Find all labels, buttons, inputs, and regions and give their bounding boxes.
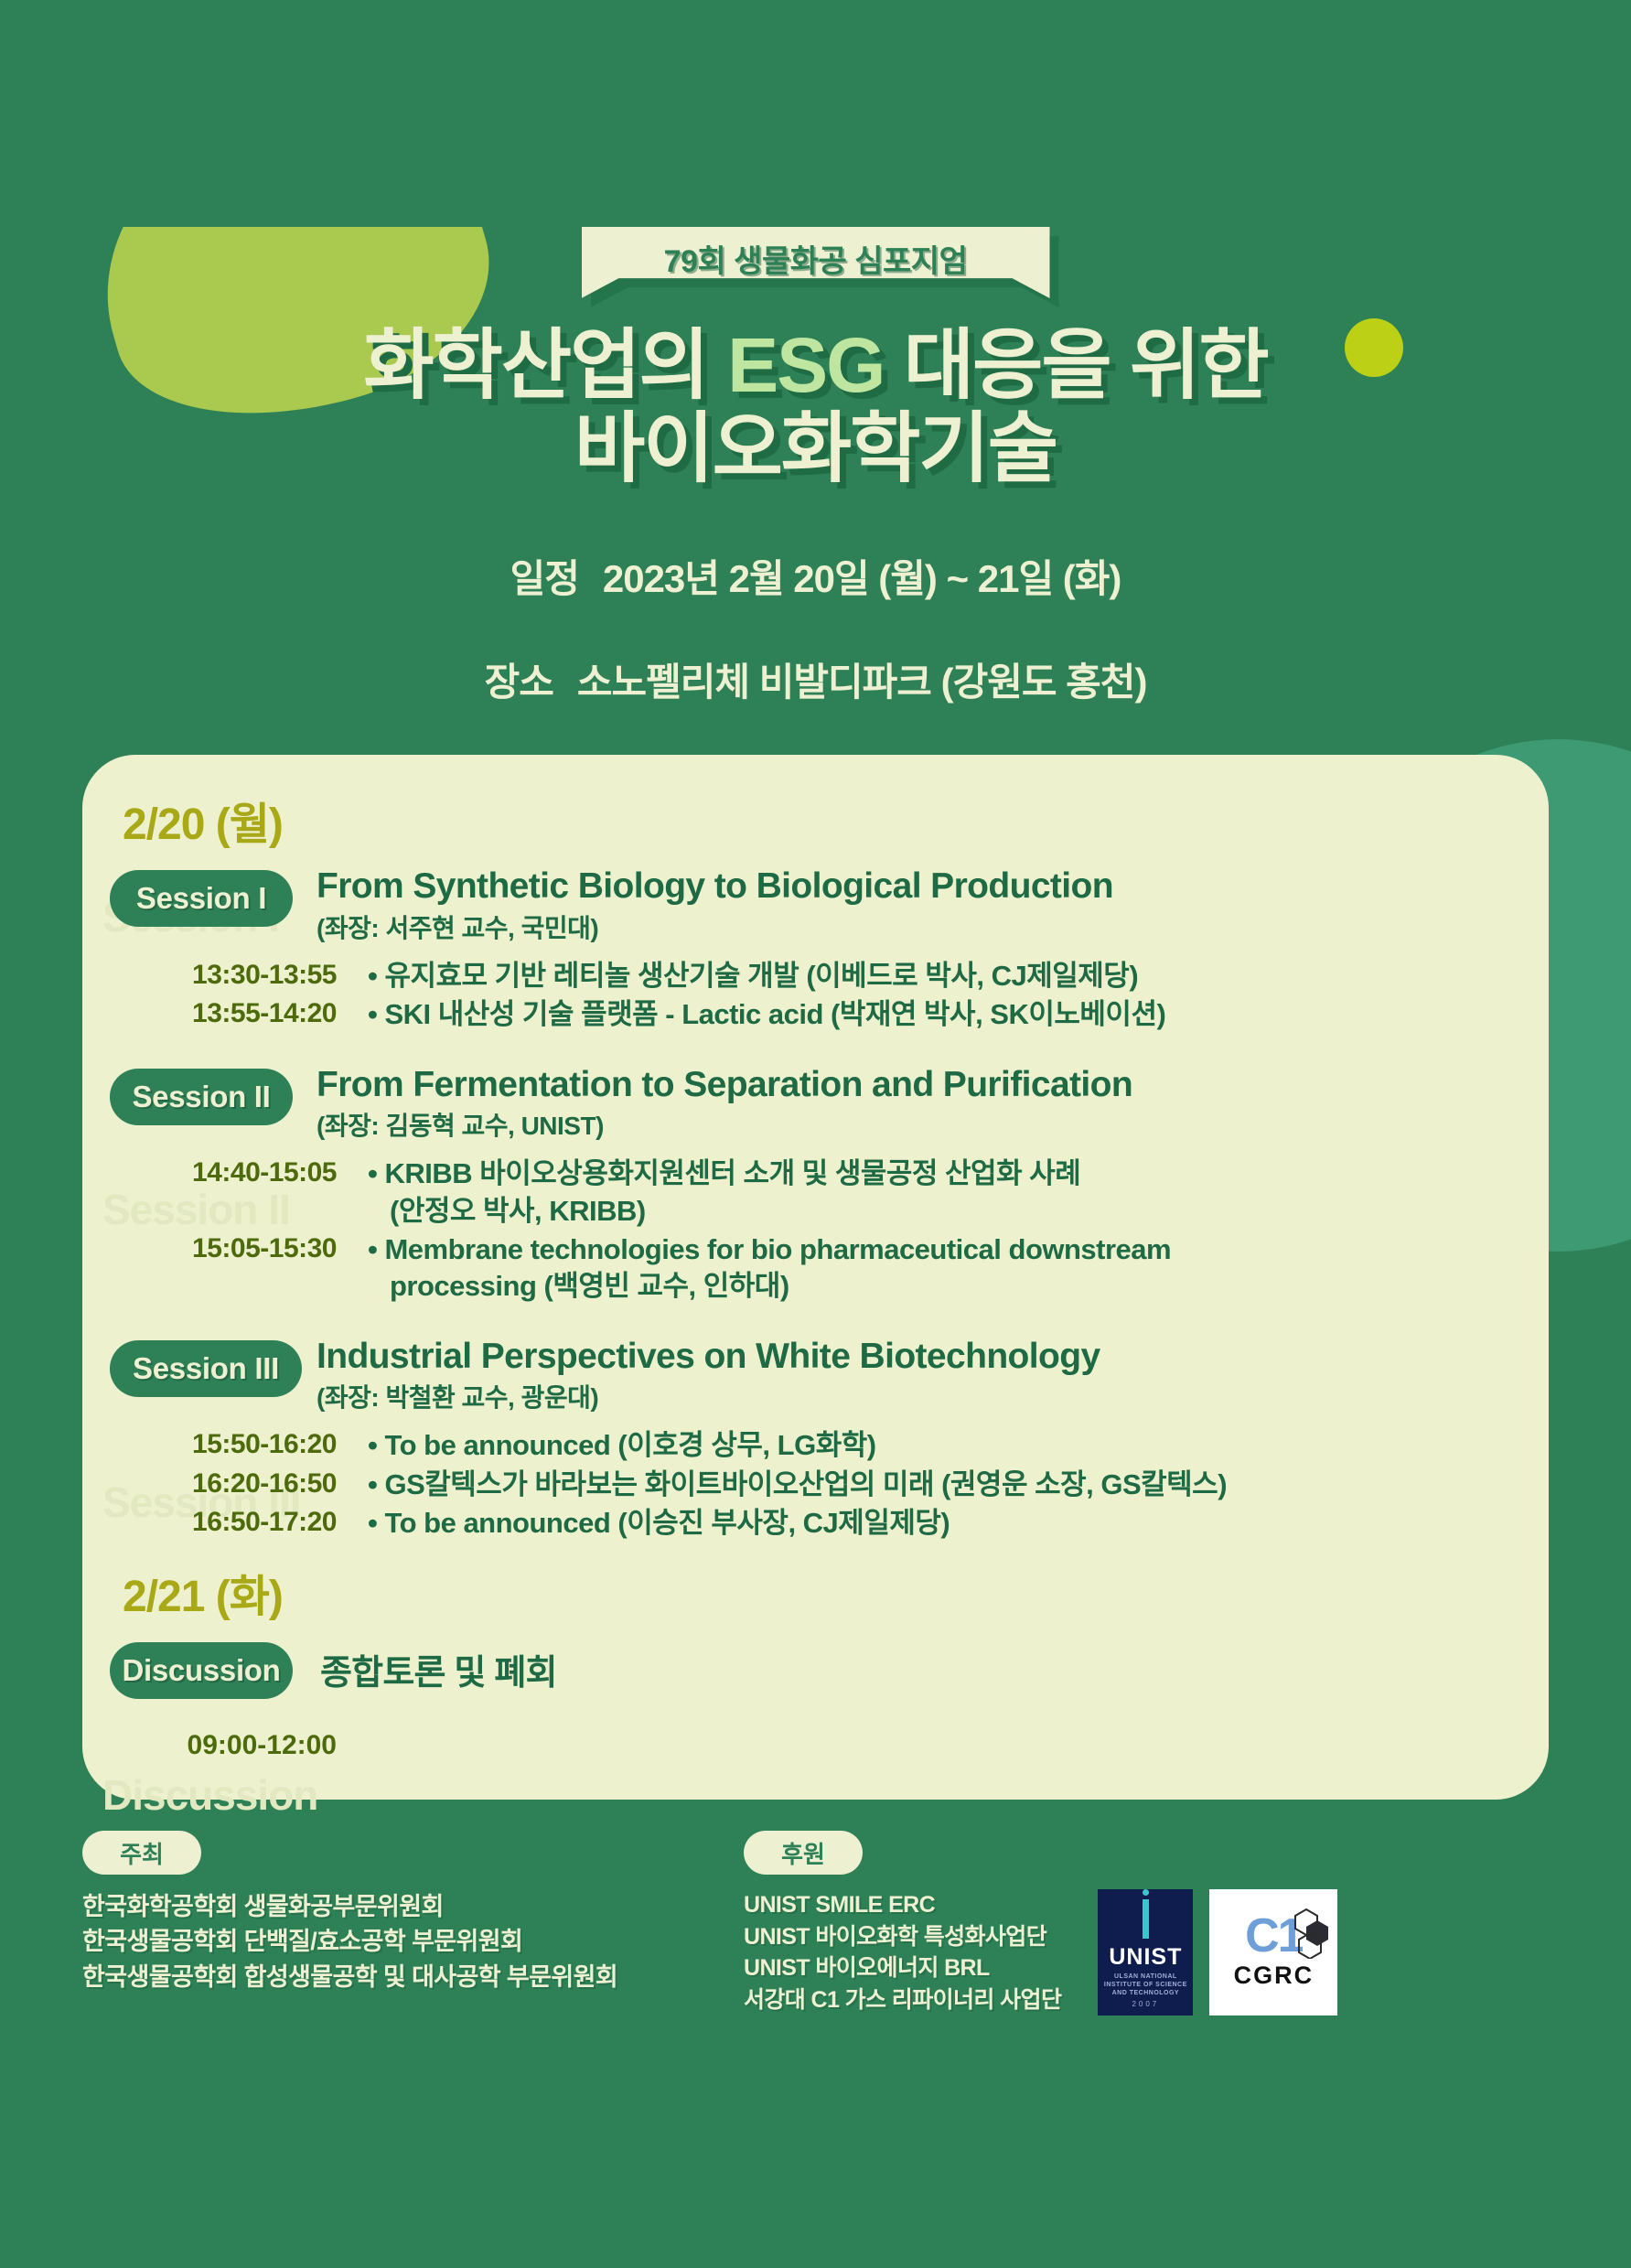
sponsor-column: 후원 UNIST SMILE ERC UNIST 바이오화학 특성화사업단 UN… [744, 1831, 1549, 2015]
talk-text: • Membrane technologies for bio pharmace… [337, 1231, 1171, 1306]
unist-dot-icon [1143, 1889, 1149, 1896]
talk-text: • To be announced (이호경 상무, LG화학) [337, 1427, 876, 1464]
discussion-time: 09:00-12:00 [82, 1730, 337, 1761]
session-chair-1: (좌장: 서주현 교수, 국민대) [317, 908, 1113, 945]
day-label-2: 2/21 (화) [82, 1560, 1549, 1624]
session-titles-2: From Fermentation to Separation and Puri… [293, 1065, 1132, 1144]
talk-text: • KRIBB 바이오상용화지원센터 소개 및 생물공정 산업화 사례 (안정오… [337, 1155, 1080, 1230]
session-header-1: Session I From Synthetic Biology to Biol… [82, 866, 1549, 945]
talk-time: 16:20-16:50 [82, 1467, 337, 1499]
session-block-3: Session III Industrial Perspectives on W… [82, 1337, 1549, 1542]
sponsor-list: UNIST SMILE ERC UNIST 바이오화학 특성화사업단 UNIST… [744, 1889, 1061, 2015]
talk-text-cont: processing (백영빈 교수, 인하대) [368, 1268, 1171, 1305]
sponsor-tag: 후원 [744, 1831, 863, 1875]
session-titles-3: Industrial Perspectives on White Biotech… [302, 1337, 1100, 1415]
sponsor-line: UNIST 바이오에너지 BRL [744, 1952, 1061, 1984]
session-pill-3[interactable]: Session III [110, 1340, 302, 1397]
talk-row: 13:55-14:20 • SKI 내산성 기술 플랫폼 - Lactic ac… [82, 996, 1549, 1033]
talk-row: 16:50-17:20 • To be announced (이승진 부사장, … [82, 1505, 1549, 1542]
event-meta: 일정2023년 2월 20일 (월) ~ 21일 (화) 장소소노펠리체 비발디… [0, 548, 1631, 707]
title-accent-esg: ESG [727, 322, 884, 408]
talk-time: 14:40-15:05 [82, 1155, 337, 1188]
sponsor-line: UNIST 바이오화학 특성화사업단 [744, 1921, 1061, 1953]
talk-text: • 유지효모 기반 레티놀 생산기술 개발 (이베드로 박사, CJ제일제당) [337, 958, 1138, 994]
talk-time: 13:30-13:55 [82, 958, 337, 991]
poster-content: 79회 생물화공 심포지엄 화학산업의 ESG 대응을 위한 바이오화학기술 일… [0, 227, 1631, 2015]
session-block-1: Session I From Synthetic Biology to Biol… [82, 866, 1549, 1033]
host-column: 주최 한국화학공학회 생물화공부문위원회 한국생물공학회 단백질/효소공학 부문… [82, 1831, 744, 2015]
session-title-2: From Fermentation to Separation and Puri… [317, 1065, 1132, 1105]
session-titles-1: From Synthetic Biology to Biological Pro… [293, 866, 1113, 945]
talk-time: 13:55-14:20 [82, 996, 337, 1029]
host-list: 한국화학공학회 생물화공부문위원회 한국생물공학회 단백질/효소공학 부문위원회… [82, 1889, 744, 1994]
date-value: 2023년 2월 20일 (월) ~ 21일 (화) [603, 557, 1121, 600]
talk-row: 15:05-15:30 • Membrane technologies for … [82, 1231, 1549, 1306]
talk-text-main: • KRIBB 바이오상용화지원센터 소개 및 생물공정 산업화 사례 [368, 1155, 1080, 1192]
talk-time: 15:50-16:20 [82, 1427, 337, 1460]
program-card: Session I Session II Session III Discuss… [82, 755, 1549, 1800]
talk-text: • To be announced (이승진 부사장, CJ제일제당) [337, 1505, 950, 1542]
talk-row: 13:30-13:55 • 유지효모 기반 레티놀 생산기술 개발 (이베드로 … [82, 958, 1549, 994]
discussion-title: 종합토론 및 폐회 [293, 1644, 557, 1694]
sponsor-line: UNIST SMILE ERC [744, 1889, 1061, 1921]
discussion-block: Discussion 종합토론 및 폐회 [82, 1639, 1549, 1699]
footer: 주최 한국화학공학회 생물화공부문위원회 한국생물공학회 단백질/효소공학 부문… [0, 1831, 1631, 2015]
page-title: 화학산업의 ESG 대응을 위한 바이오화학기술 [0, 324, 1631, 489]
title-part-1: 화학산업의 [363, 322, 727, 408]
ghost-discussion: Discussion [102, 1770, 317, 1820]
title-line-1: 화학산업의 ESG 대응을 위한 [0, 324, 1631, 407]
discussion-pill[interactable]: Discussion [110, 1642, 293, 1699]
talk-text: • GS칼텍스가 바라보는 화이트바이오산업의 미래 (권영운 소장, GS칼텍… [337, 1467, 1227, 1503]
talk-row: 16:20-16:50 • GS칼텍스가 바라보는 화이트바이오산업의 미래 (… [82, 1467, 1549, 1503]
talk-time: 16:50-17:20 [82, 1505, 337, 1538]
session-header-3: Session III Industrial Perspectives on W… [82, 1337, 1549, 1415]
session-pill-1[interactable]: Session I [110, 870, 293, 927]
session-chair-2: (좌장: 김동혁 교수, UNIST) [317, 1106, 1132, 1143]
ribbon-shape: 79회 생물화공 심포지엄 [582, 227, 1050, 298]
session-header-2: Session II From Fermentation to Separati… [82, 1065, 1549, 1144]
hexagon-icon [1292, 1908, 1332, 1959]
session-chair-3: (좌장: 박철환 교수, 광운대) [317, 1378, 1100, 1414]
unist-subtitle: ULSAN NATIONAL INSTITUTE OF SCIENCE AND … [1098, 1972, 1193, 1997]
talk-text-cont: (안정오 박사, KRIBB) [368, 1193, 1080, 1230]
talk-row: 15:50-16:20 • To be announced (이호경 상무, L… [82, 1427, 1549, 1464]
host-line: 한국생물공학회 합성생물공학 및 대사공학 부문위원회 [82, 1960, 744, 1994]
unist-year: 2007 [1132, 2000, 1159, 2008]
sponsor-logos: UNIST ULSAN NATIONAL INSTITUTE OF SCIENC… [1098, 1831, 1337, 2015]
session-title-3: Industrial Perspectives on White Biotech… [317, 1337, 1100, 1377]
host-line: 한국생물공학회 단백질/효소공학 부문위원회 [82, 1924, 744, 1959]
sponsor-line: 서강대 C1 가스 리파이너리 사업단 [744, 1984, 1061, 2016]
day-label-1: 2/20 (월) [82, 788, 1549, 852]
sponsor-text-group: 후원 UNIST SMILE ERC UNIST 바이오화학 특성화사업단 UN… [744, 1831, 1061, 2015]
session-pill-2[interactable]: Session II [110, 1069, 293, 1125]
session-block-2: Session II From Fermentation to Separati… [82, 1065, 1549, 1306]
unist-logo: UNIST ULSAN NATIONAL INSTITUTE OF SCIENC… [1098, 1889, 1193, 2015]
cgrc-text: CGRC [1234, 1962, 1314, 1990]
talk-text-main: • Membrane technologies for bio pharmace… [368, 1231, 1171, 1268]
cgrc-logo: C1 CGRC [1209, 1889, 1337, 2015]
event-date-row: 일정2023년 2월 20일 (월) ~ 21일 (화) [0, 548, 1631, 604]
symposium-number-label: 79회 생물화공 심포지엄 [664, 227, 968, 281]
session-title-1: From Synthetic Biology to Biological Pro… [317, 866, 1113, 907]
session-talks-3: 15:50-16:20 • To be announced (이호경 상무, L… [82, 1427, 1549, 1542]
talk-row: 14:40-15:05 • KRIBB 바이오상용화지원센터 소개 및 생물공정… [82, 1155, 1549, 1230]
ribbon-banner: 79회 생물화공 심포지엄 [582, 227, 1050, 298]
place-label: 장소 [485, 661, 553, 704]
session-talks-1: 13:30-13:55 • 유지효모 기반 레티놀 생산기술 개발 (이베드로 … [82, 958, 1549, 1034]
title-part-2: 대응을 위한 [885, 322, 1268, 408]
talk-text: • SKI 내산성 기술 플랫폼 - Lactic acid (박재연 박사, … [337, 996, 1165, 1033]
title-line-2: 바이오화학기술 [0, 407, 1631, 490]
unist-wordmark: UNIST [1109, 1946, 1182, 1969]
host-line: 한국화학공학회 생물화공부문위원회 [82, 1889, 744, 1924]
unist-bar-icon [1143, 1899, 1149, 1939]
event-place-row: 장소소노펠리체 비발디파크 (강원도 홍천) [0, 651, 1631, 707]
session-talks-2: 14:40-15:05 • KRIBB 바이오상용화지원센터 소개 및 생물공정… [82, 1155, 1549, 1305]
host-tag: 주최 [82, 1831, 201, 1875]
place-value: 소노펠리체 비발디파크 (강원도 홍천) [577, 661, 1147, 704]
date-label: 일정 [510, 557, 579, 600]
talk-time: 15:05-15:30 [82, 1231, 337, 1264]
